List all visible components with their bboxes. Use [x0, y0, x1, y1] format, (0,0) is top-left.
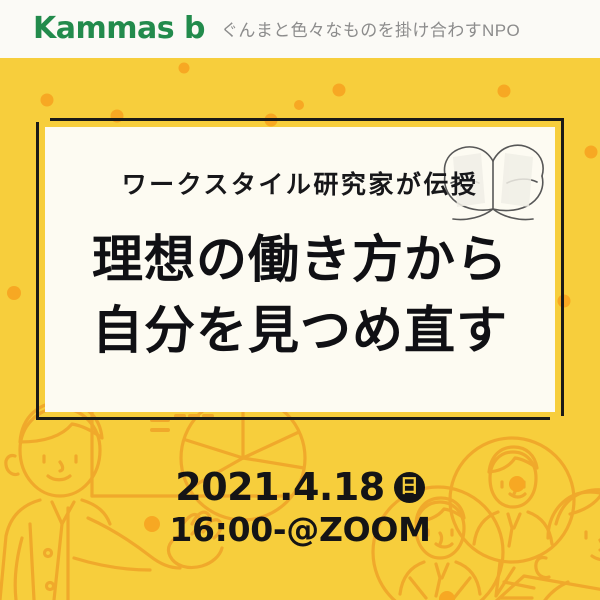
dot-accent-right-bottom: [439, 591, 455, 600]
site-header: Kammas b ぐんまと色々なものを掛け合わすNPO: [0, 0, 600, 58]
card-frame-right: [561, 118, 564, 416]
event-date-row: 2021.4.18 日: [0, 468, 600, 506]
event-date: 2021.4.18: [175, 468, 384, 506]
card-frame-left: [36, 122, 39, 420]
headline-line-1: 理想の働き方から: [45, 234, 555, 285]
poster: Kammas b ぐんまと色々なものを掛け合わすNPO: [0, 0, 600, 600]
day-of-week-badge: 日: [394, 472, 425, 503]
card-subtitle: ワークスタイル研究家が伝授: [45, 173, 555, 198]
brand-logo[interactable]: Kammas b: [33, 14, 205, 44]
card-frame-bottom: [36, 417, 550, 420]
event-time-venue: 16:00-@ZOOM: [0, 513, 600, 546]
title-card: ワークスタイル研究家が伝授 理想の働き方から 自分を見つめ直す: [36, 118, 564, 420]
card-frame-top: [50, 118, 564, 121]
card-surface: ワークスタイル研究家が伝授 理想の働き方から 自分を見つめ直す: [45, 127, 555, 412]
event-datetime: 2021.4.18 日 16:00-@ZOOM: [0, 468, 600, 546]
headline-line-2: 自分を見つめ直す: [45, 305, 555, 356]
brand-tagline: ぐんまと色々なものを掛け合わすNPO: [221, 20, 520, 39]
